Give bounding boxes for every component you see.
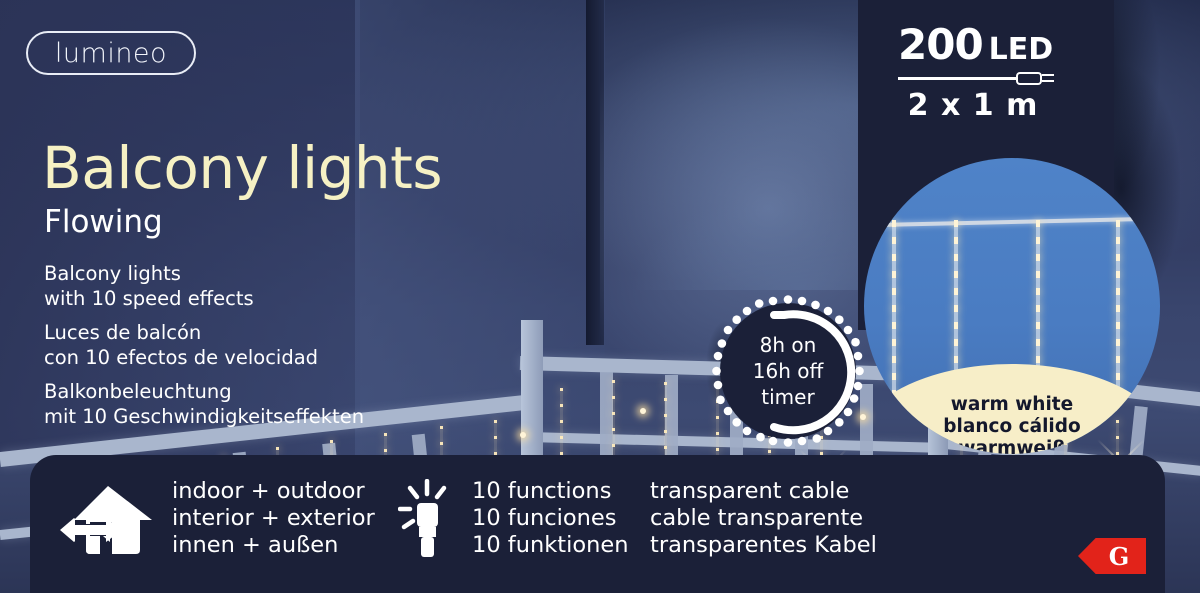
timer-line-3: timer: [761, 384, 814, 410]
swatch-color-es: blanco cálido: [864, 416, 1160, 438]
feature-indoor-outdoor-text: indoor + outdoor interior + exterior inn…: [172, 478, 375, 559]
product-subtitle: Flowing: [44, 204, 163, 240]
product-swatch-circle: warm white blanco cálido warmweiß: [864, 158, 1160, 454]
swatch-color-en: warm white: [864, 394, 1160, 416]
energy-label-badge: G: [1078, 538, 1146, 574]
led-length: 2 x 1 m: [898, 88, 1048, 123]
feature-1-line2: interior + exterior: [172, 505, 375, 532]
brand-logo-text: lumineo: [55, 38, 167, 69]
swatch-color-de: warmweiß: [864, 438, 1160, 454]
feature-2-line1: 10 functions: [472, 478, 628, 505]
led-badge: 200 LED 2 x 1 m: [898, 20, 1088, 123]
description-es: Luces de balcón con 10 efectos de veloci…: [44, 320, 318, 370]
feature-2-line3: 10 funktionen: [472, 532, 628, 559]
led-unit: LED: [989, 32, 1054, 67]
description-en-line1: Balcony lights: [44, 261, 254, 286]
brand-logo: lumineo: [26, 31, 196, 75]
feature-cable-text: transparent cable cable transparente tra…: [650, 478, 877, 559]
timer-line-1: 8h on: [760, 332, 817, 358]
description-es-line2: con 10 efectos de velocidad: [44, 345, 318, 370]
feature-2-line2: 10 funciones: [472, 505, 628, 532]
feature-1-line1: indoor + outdoor: [172, 478, 375, 505]
feature-3-line2: cable transparente: [650, 505, 877, 532]
description-en: Balcony lights with 10 speed effects: [44, 261, 254, 311]
feature-3-line1: transparent cable: [650, 478, 877, 505]
description-es-line1: Luces de balcón: [44, 320, 318, 345]
feature-cable: transparent cable cable transparente tra…: [650, 478, 877, 559]
led-count-row: 200 LED: [898, 20, 1088, 69]
plug-pin-bottom: [1042, 80, 1054, 82]
description-de-line2: mit 10 Geschwindigkeitseffekten: [44, 404, 364, 429]
led-count: 200: [898, 20, 983, 69]
swatch-color-names: warm white blanco cálido warmweiß: [864, 394, 1160, 454]
timer-text: 8h on 16h off timer: [712, 295, 864, 447]
timer-line-2: 16h off: [753, 358, 824, 384]
plug-pin-top: [1042, 74, 1054, 76]
energy-class-letter: G: [1078, 538, 1146, 574]
feature-indoor-outdoor: indoor + outdoor interior + exterior inn…: [60, 478, 375, 559]
description-de-line1: Balkonbeleuchtung: [44, 379, 364, 404]
light-bulb: [640, 408, 646, 414]
description-de: Balkonbeleuchtung mit 10 Geschwindigkeit…: [44, 379, 364, 429]
feature-1-line3: innen + außen: [172, 532, 375, 559]
light-bulb: [520, 432, 526, 438]
house-arrows-icon: [60, 480, 156, 558]
timer-badge: 8h on 16h off timer: [712, 295, 864, 447]
feature-functions: 10 functions 10 funciones 10 funktionen: [398, 478, 628, 559]
description-en-line2: with 10 speed effects: [44, 286, 254, 311]
feature-3-line3: transparentes Kabel: [650, 532, 877, 559]
product-package: lumineo Balcony lights Flowing Balcony l…: [0, 0, 1200, 593]
feature-functions-text: 10 functions 10 funciones 10 funktionen: [472, 478, 628, 559]
shining-bulb-icon: [398, 479, 456, 559]
plug-body: [1016, 72, 1042, 85]
product-title: Balcony lights: [42, 134, 442, 202]
plug-icon: [898, 71, 1048, 85]
